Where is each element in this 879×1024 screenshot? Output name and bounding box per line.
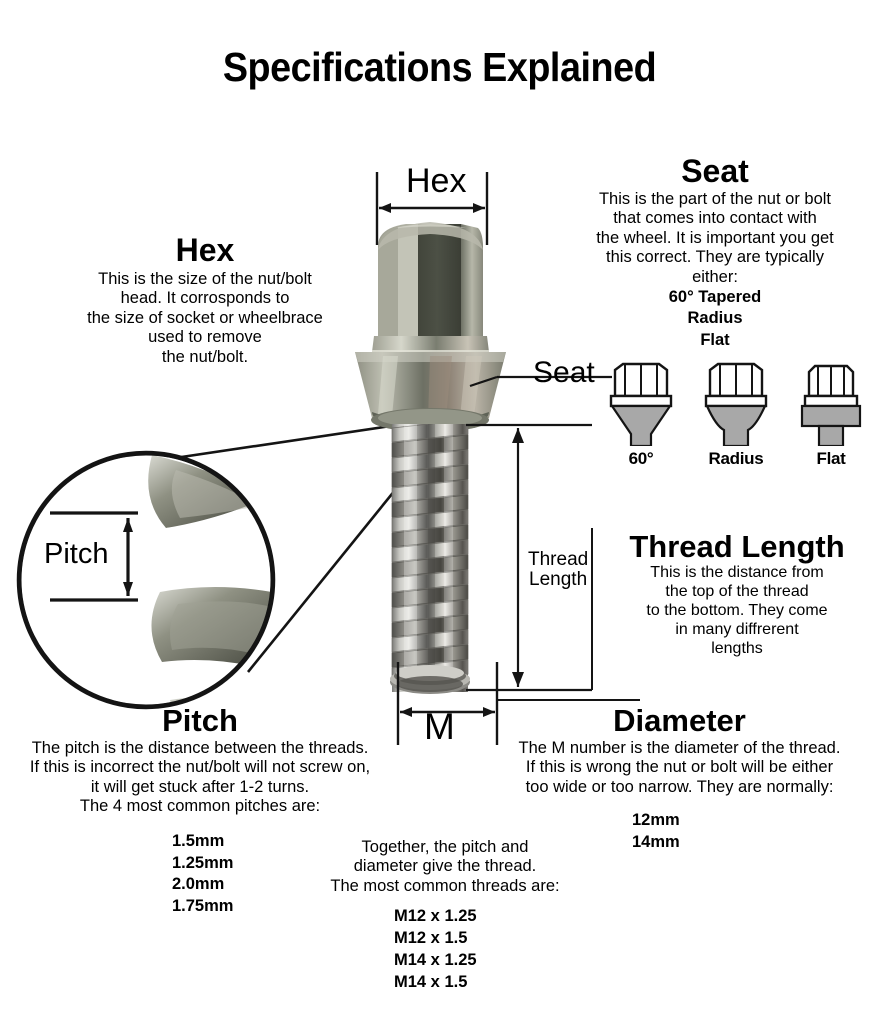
pitch-magnifier: [18, 452, 278, 736]
seat-icon-radius: Radius: [693, 360, 779, 475]
hex-heading: Hex: [40, 234, 370, 266]
seat-icon-tapered: 60°: [598, 360, 684, 475]
thread-combo-list: M12 x 1.25 M12 x 1.5 M14 x 1.25 M14 x 1.…: [394, 906, 590, 993]
hex-line-3: the size of socket or wheelbrace: [40, 309, 370, 328]
pitch-description: The pitch is the distance between the th…: [0, 739, 400, 817]
thread-length-line-3: to the bottom. They come: [595, 602, 879, 621]
flat-seat-glyph: [791, 360, 871, 446]
diameter-value-1: 12mm: [632, 810, 879, 832]
pitch-line-4: The 4 most common pitches are:: [0, 797, 400, 816]
thread-length-line-4: in many diffrerent: [595, 621, 879, 640]
thread-combo-1: M12 x 1.25: [394, 906, 590, 928]
hex-line-2: head. It corrosponds to: [40, 289, 370, 308]
bolt-hex-head: [378, 222, 483, 336]
diameter-line-2: If this is wrong the nut or bolt will be…: [480, 758, 879, 777]
thread-length-line-2: the top of the thread: [595, 583, 879, 602]
pitch-heading: Pitch: [0, 705, 400, 736]
diameter-line-3: too wide or too narrow. They are normall…: [480, 778, 879, 797]
pitch-line-2: If this is incorrect the nut/bolt will n…: [0, 758, 400, 777]
hex-dimension-label: Hex: [406, 164, 466, 200]
thread-combo-4: M14 x 1.5: [394, 972, 590, 994]
hex-description: This is the size of the nut/bolt head. I…: [40, 270, 370, 367]
seat-line-1: This is the part of the nut or bolt: [560, 190, 870, 209]
m-dimension-label: M: [424, 708, 455, 747]
thread-length-heading: Thread Length: [595, 531, 879, 562]
thread-length-line-1: This is the distance from: [595, 564, 879, 583]
seat-line-2: that comes into contact with: [560, 209, 870, 228]
seat-icon-flat: Flat: [788, 360, 874, 475]
seat-dimension-label: Seat: [533, 357, 595, 389]
combined-line-3: The most common threads are:: [300, 877, 590, 896]
diameter-value-2: 14mm: [632, 832, 879, 854]
thread-length-dimension-label: Thread Length: [528, 550, 588, 590]
specifications-diagram: Specifications Explained: [0, 0, 879, 1024]
seat-icon-label-radius: Radius: [693, 449, 779, 469]
seat-icon-label-flat: Flat: [788, 449, 874, 469]
diameter-value-list: 12mm 14mm: [632, 810, 879, 854]
thread-combo-3: M14 x 1.25: [394, 950, 590, 972]
combined-thread-section: Together, the pitch and diameter give th…: [300, 838, 590, 993]
thread-length-description: This is the distance from the top of the…: [595, 564, 879, 658]
diameter-section: Diameter The M number is the diameter of…: [480, 705, 879, 854]
thread-length-dim-line-1: Thread: [528, 550, 588, 570]
bolt-seat-cone: [355, 352, 506, 436]
thread-combo-2: M12 x 1.5: [394, 928, 590, 950]
seat-line-4: this correct. They are typically: [560, 248, 870, 267]
pitch-dimension-label: Pitch: [44, 539, 108, 569]
hex-section: Hex This is the size of the nut/bolt hea…: [40, 234, 370, 367]
seat-type-radius: Radius: [560, 308, 870, 329]
pitch-line-1: The pitch is the distance between the th…: [0, 739, 400, 758]
seat-line-3: the wheel. It is important you get: [560, 229, 870, 248]
diameter-heading: Diameter: [480, 705, 879, 736]
bolt-threaded-shaft: [392, 420, 468, 692]
seat-type-list: 60° Tapered Radius Flat: [560, 287, 870, 350]
seat-section: Seat This is the part of the nut or bolt…: [560, 155, 870, 351]
pitch-line-3: it will get stuck after 1-2 turns.: [0, 778, 400, 797]
hex-line-5: the nut/bolt.: [40, 348, 370, 367]
diameter-description: The M number is the diameter of the thre…: [480, 739, 879, 797]
thread-length-line-5: lengths: [595, 640, 879, 659]
hex-line-1: This is the size of the nut/bolt: [40, 270, 370, 289]
radius-seat-glyph: [696, 360, 776, 446]
thread-length-dim-line-2: Length: [528, 570, 588, 590]
seat-line-5: either:: [560, 268, 870, 287]
bolt-tip: [390, 665, 470, 694]
combined-line-2: diameter give the thread.: [300, 857, 590, 876]
combined-description: Together, the pitch and diameter give th…: [300, 838, 590, 896]
seat-type-icons: 60° Radius Flat: [598, 360, 874, 475]
tapered-seat-glyph: [601, 360, 681, 446]
thread-length-section: Thread Length This is the distance from …: [595, 531, 879, 658]
seat-icon-label-tapered: 60°: [598, 449, 684, 469]
seat-heading: Seat: [560, 155, 870, 187]
diameter-line-1: The M number is the diameter of the thre…: [480, 739, 879, 758]
seat-type-tapered: 60° Tapered: [560, 287, 870, 308]
hex-line-4: used to remove: [40, 328, 370, 347]
combined-line-1: Together, the pitch and: [300, 838, 590, 857]
seat-description: This is the part of the nut or bolt that…: [560, 190, 870, 287]
bolt-illustration: [355, 222, 506, 694]
seat-type-flat: Flat: [560, 330, 870, 351]
